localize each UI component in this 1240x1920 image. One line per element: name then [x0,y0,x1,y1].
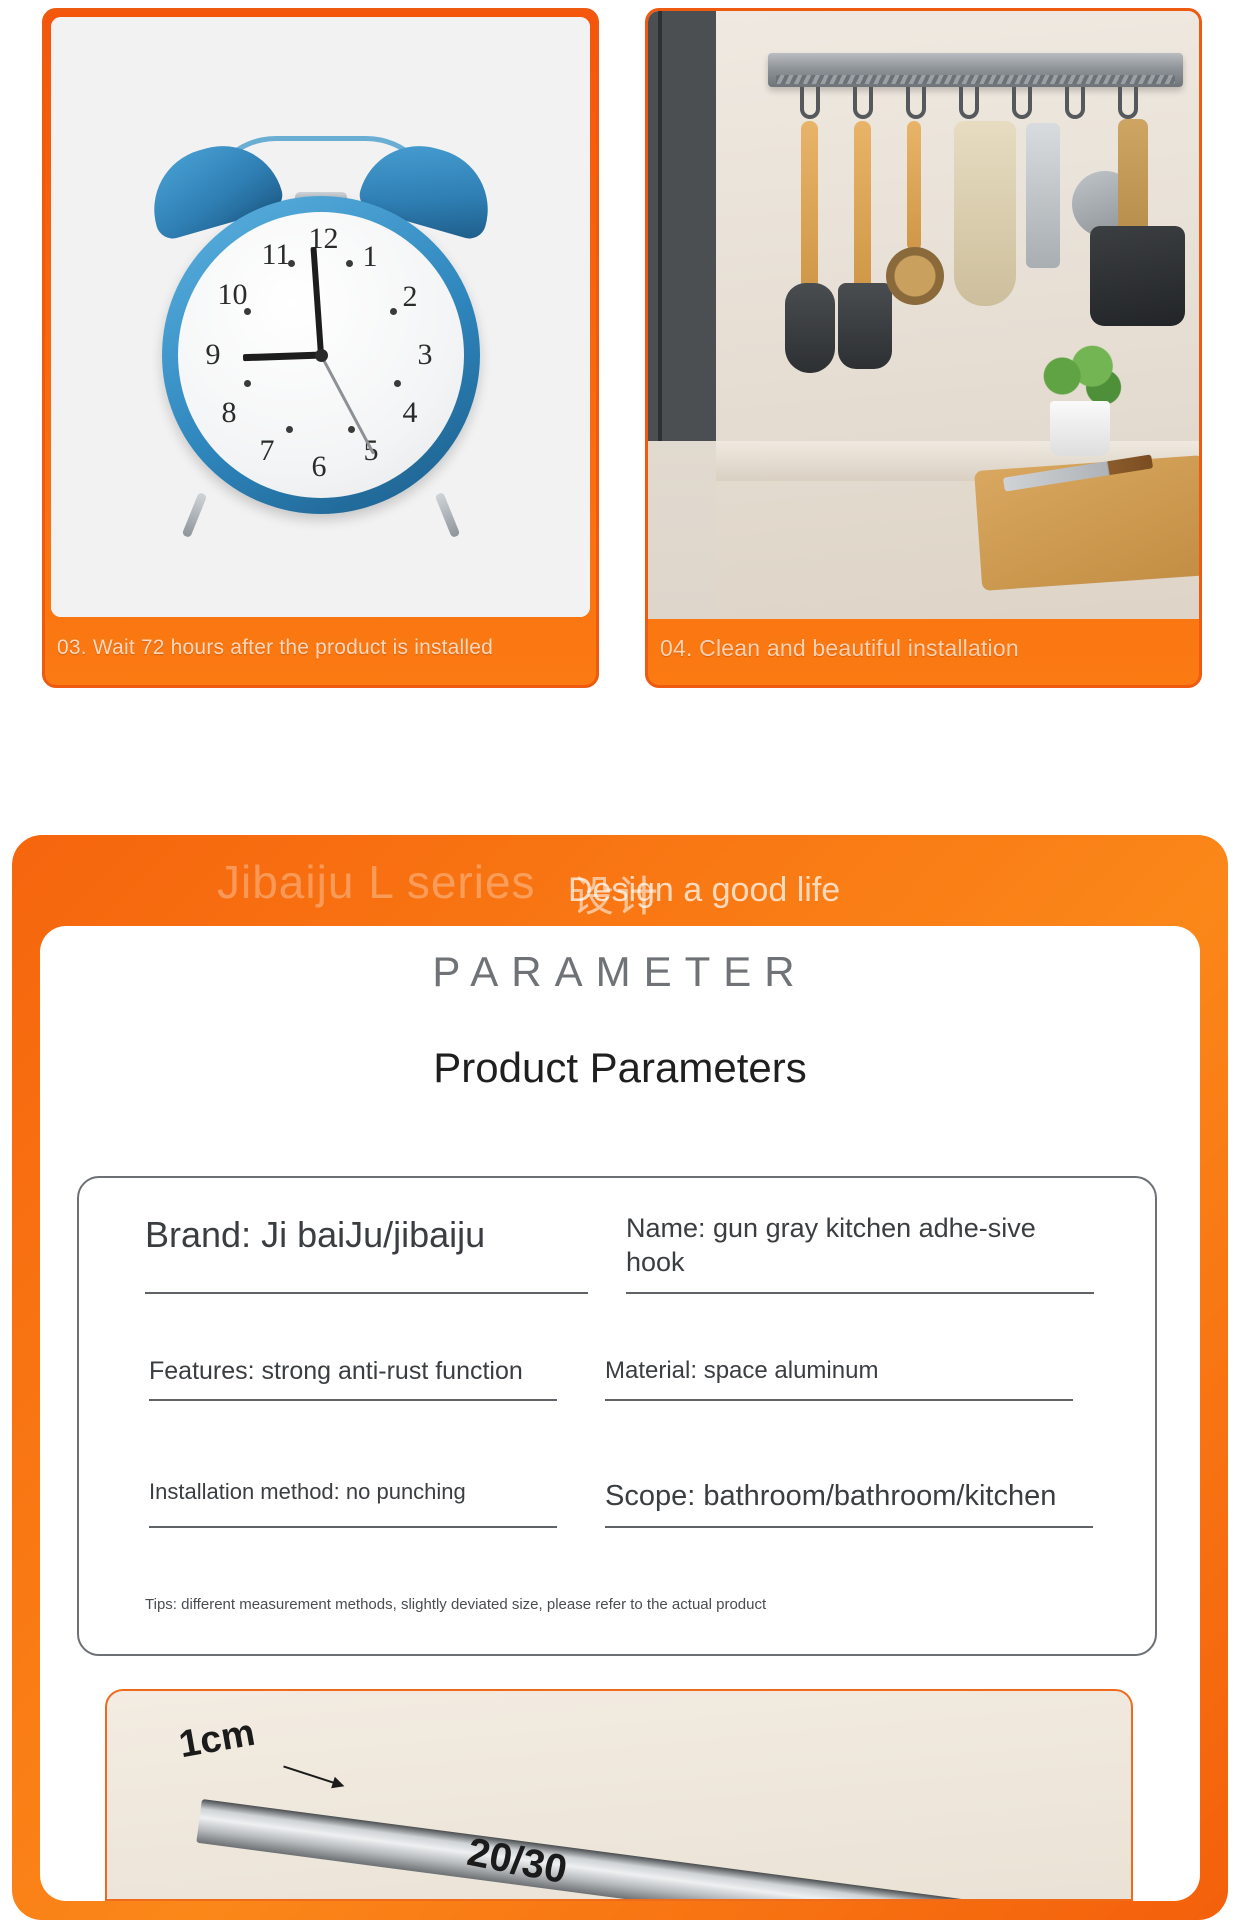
page-title: Product Parameters [40,1044,1200,1092]
brand-watermark: Jibaiju L series [217,855,536,909]
step-card-04[interactable]: 04. Clean and beautiful installation [645,8,1202,688]
spec-tips-note: Tips: different measurement methods, sli… [145,1596,766,1613]
spec-cell-scope: Scope: bathroom/bathroom/kitchen [599,1478,1099,1528]
clock-number: 10 [218,278,248,312]
spec-cell-features: Features: strong anti-rust function [143,1356,563,1401]
table-row: Features: strong anti-rust function Mate… [79,1356,1155,1401]
kitchen-rack-photo [648,11,1199,619]
product-detail-page: 12 1 2 3 4 5 6 7 8 9 10 11 [0,0,1240,1920]
clock-number: 2 [403,280,418,314]
clock-number: 8 [222,396,237,430]
spec-value-features: Features: strong anti-rust function [149,1356,557,1387]
spec-value-installation: Installation method: no punching [149,1478,557,1506]
alarm-clock-illustration: 12 1 2 3 4 5 6 7 8 9 10 11 [146,134,496,524]
clock-number: 3 [418,338,433,372]
table-row: Installation method: no punching Scope: … [79,1478,1155,1528]
dimension-photo: 1cm 20/30 [105,1689,1133,1901]
spec-value-brand: Brand: Ji baiJu/jibaiju [145,1212,588,1257]
parameter-eyebrow: PARAMETER [40,948,1200,996]
step-caption: 03. Wait 72 hours after the product is i… [45,611,596,685]
clock-number: 6 [312,450,327,484]
slogan-text: Design a good life [568,871,840,910]
clock-number: 7 [260,434,275,468]
clock-number: 1 [363,240,378,274]
length-label: 20/30 [464,1830,571,1893]
clock-number: 11 [262,238,291,272]
installation-steps-section: 12 1 2 3 4 5 6 7 8 9 10 11 [0,8,1240,688]
measure-arrow-icon [283,1765,343,1786]
spec-value-scope: Scope: bathroom/bathroom/kitchen [605,1478,1093,1514]
clock-number: 4 [403,396,418,430]
step-caption: 04. Clean and beautiful installation [648,611,1199,685]
spec-cell-material: Material: space aluminum [599,1356,1079,1401]
parameter-panel: PARAMETER Product Parameters Brand: Ji b… [40,926,1200,1901]
spec-value-material: Material: space aluminum [605,1356,1073,1386]
spec-value-name: Name: gun gray kitchen adhe-sive hook [626,1212,1094,1280]
spec-cell-brand: Brand: Ji baiJu/jibaiju [139,1212,594,1294]
spec-cell-installation: Installation method: no punching [143,1478,563,1528]
spec-cell-name: Name: gun gray kitchen adhe-sive hook [620,1212,1100,1294]
table-row: Brand: Ji baiJu/jibaiju Name: gun gray k… [79,1212,1155,1294]
thickness-label: 1cm [176,1712,258,1768]
alarm-clock-photo: 12 1 2 3 4 5 6 7 8 9 10 11 [51,17,590,617]
clock-number: 9 [206,338,221,372]
specification-table: Brand: Ji baiJu/jibaiju Name: gun gray k… [77,1176,1157,1656]
parameter-banner-section: Jibaiju L series 设计 Design a good life P… [12,835,1228,1920]
hook-rail-illustration [196,1799,1074,1901]
step-card-03[interactable]: 12 1 2 3 4 5 6 7 8 9 10 11 [42,8,599,688]
